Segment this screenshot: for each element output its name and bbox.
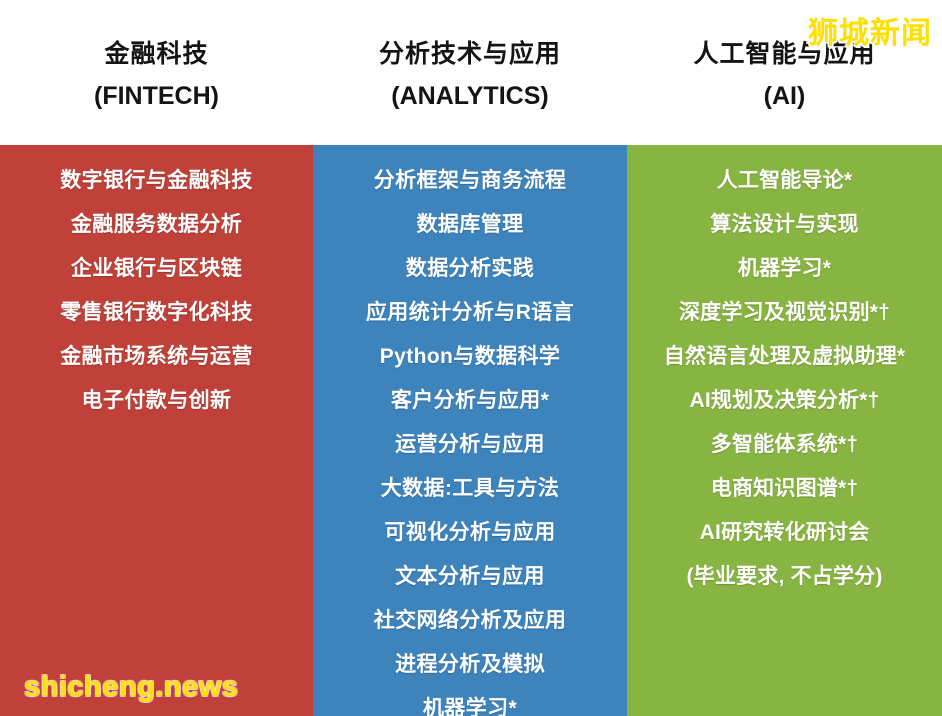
course-panel-fintech: 数字银行与金融科技金融服务数据分析企业银行与区块链零售银行数字化科技金融市场系统… <box>0 145 313 716</box>
course-list-fintech: 数字银行与金融科技金融服务数据分析企业银行与区块链零售银行数字化科技金融市场系统… <box>0 159 313 423</box>
course-item: 分析框架与商务流程 <box>313 159 627 203</box>
course-panels: 数字银行与金融科技金融服务数据分析企业银行与区块链零售银行数字化科技金融市场系统… <box>0 145 942 716</box>
course-item: 金融服务数据分析 <box>0 203 313 247</box>
column-header-fintech: 金融科技 (FINTECH) <box>0 0 313 145</box>
course-item: 多智能体系统*† <box>627 423 942 467</box>
course-item: 进程分析及模拟 <box>313 643 627 687</box>
course-item: 可视化分析与应用 <box>313 511 627 555</box>
course-list-analytics: 分析框架与商务流程数据库管理数据分析实践应用统计分析与R语言Python与数据科… <box>313 159 627 716</box>
course-list-ai: 人工智能导论*算法设计与实现机器学习*深度学习及视觉识别*†自然语言处理及虚拟助… <box>627 159 942 599</box>
course-item: 数字银行与金融科技 <box>0 159 313 203</box>
column-header-ai-cn: 人工智能与应用 <box>693 39 875 70</box>
course-item: 金融市场系统与运营 <box>0 335 313 379</box>
course-item: AI研究转化研讨会 <box>627 511 942 555</box>
course-item: 电商知识图谱*† <box>627 467 942 511</box>
course-item: 应用统计分析与R语言 <box>313 291 627 335</box>
course-item: 数据分析实践 <box>313 247 627 291</box>
course-item: 数据库管理 <box>313 203 627 247</box>
course-item: 零售银行数字化科技 <box>0 291 313 335</box>
course-item: 机器学习* <box>313 687 627 716</box>
course-panel-analytics: 分析框架与商务流程数据库管理数据分析实践应用统计分析与R语言Python与数据科… <box>313 145 627 716</box>
column-header-fintech-en: (FINTECH) <box>94 81 219 112</box>
course-item: 自然语言处理及虚拟助理* <box>627 335 942 379</box>
column-headers: 金融科技 (FINTECH) 分析技术与应用 (ANALYTICS) 人工智能与… <box>0 0 942 145</box>
column-header-ai-en: (AI) <box>764 81 806 112</box>
column-header-analytics: 分析技术与应用 (ANALYTICS) <box>313 0 627 145</box>
course-item: 大数据:工具与方法 <box>313 467 627 511</box>
column-header-fintech-cn: 金融科技 <box>104 39 208 70</box>
course-panel-ai: 人工智能导论*算法设计与实现机器学习*深度学习及视觉识别*†自然语言处理及虚拟助… <box>627 145 942 716</box>
course-item: 机器学习* <box>627 247 942 291</box>
course-item: 算法设计与实现 <box>627 203 942 247</box>
course-item: (毕业要求, 不占学分) <box>627 555 942 599</box>
course-item: 客户分析与应用* <box>313 379 627 423</box>
course-item: 运营分析与应用 <box>313 423 627 467</box>
course-item: 电子付款与创新 <box>0 379 313 423</box>
curriculum-board: 金融科技 (FINTECH) 分析技术与应用 (ANALYTICS) 人工智能与… <box>0 0 942 716</box>
course-item: Python与数据科学 <box>313 335 627 379</box>
course-item: 社交网络分析及应用 <box>313 599 627 643</box>
column-header-analytics-en: (ANALYTICS) <box>391 81 548 112</box>
column-header-ai: 人工智能与应用 (AI) <box>627 0 942 145</box>
course-item: 深度学习及视觉识别*† <box>627 291 942 335</box>
course-item: 企业银行与区块链 <box>0 247 313 291</box>
column-header-analytics-cn: 分析技术与应用 <box>379 39 561 70</box>
course-item: 人工智能导论* <box>627 159 942 203</box>
course-item: AI规划及决策分析*† <box>627 379 942 423</box>
course-item: 文本分析与应用 <box>313 555 627 599</box>
